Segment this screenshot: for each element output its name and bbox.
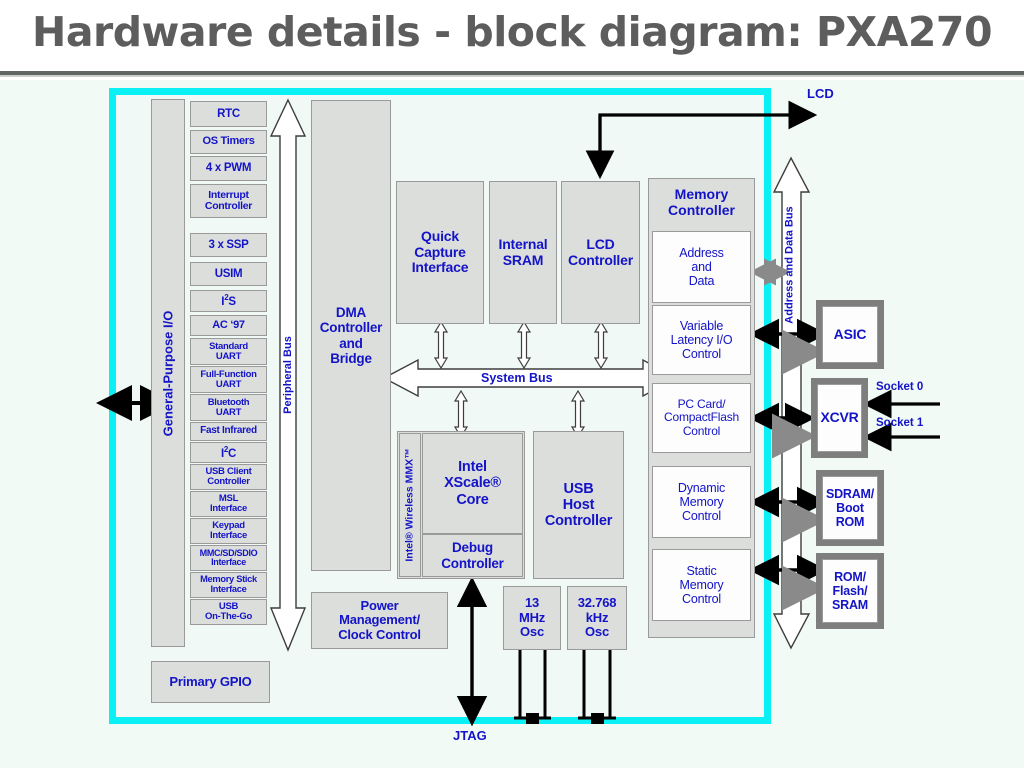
peripheral-i2s[interactable]: I2S: [190, 290, 267, 312]
lcd-controller-label: LCDController: [568, 237, 633, 268]
peripheral-i2c[interactable]: I2C: [190, 442, 267, 463]
peripheral-bluetooth-uart[interactable]: BluetoothUART: [190, 394, 267, 421]
peripheral-label: MMC/SD/SDIOInterface: [200, 549, 258, 568]
memory-address-and-data-label: AddressandData: [679, 246, 723, 288]
pc-card-compactflash-block[interactable]: PC Card/CompactFlashControl: [652, 383, 751, 453]
peripheral-standard-uart[interactable]: StandardUART: [190, 338, 267, 365]
memory-address-and-data-block[interactable]: AddressandData: [652, 231, 751, 303]
peripheral-ssp[interactable]: 3 x SSP: [190, 233, 267, 257]
osc-32768khz-label: 32.768kHzOsc: [578, 596, 617, 640]
intel-xscale-core-block[interactable]: IntelXScale®Core: [422, 433, 523, 534]
rom-flash-sram-label: ROM/Flash/SRAM: [832, 570, 868, 612]
peripheral-mmc-sd-sdio-interface[interactable]: MMC/SD/SDIOInterface: [190, 545, 267, 571]
peripheral-label: StandardUART: [209, 342, 248, 362]
xcvr-label: XCVR: [820, 410, 858, 426]
general-purpose-io-label: General-Purpose I/O: [161, 310, 176, 436]
dynamic-memory-control-block[interactable]: DynamicMemoryControl: [652, 466, 751, 538]
peripheral-msl-interface[interactable]: MSLInterface: [190, 491, 267, 517]
osc-32768khz-block[interactable]: 32.768kHzOsc: [567, 586, 627, 650]
peripheral-usb-client-controller[interactable]: USB ClientController: [190, 464, 267, 490]
system-bus-label: System Bus: [481, 371, 553, 385]
intel-wireless-mmx-block[interactable]: Intel® Wireless MMX™: [399, 433, 421, 577]
jtag-label: JTAG: [453, 728, 487, 743]
dynamic-memory-control-label: DynamicMemoryControl: [678, 481, 725, 523]
peripheral-usim[interactable]: USIM: [190, 262, 267, 286]
peripheral-label: BluetoothUART: [208, 398, 250, 418]
peripheral-label: KeypadInterface: [210, 521, 247, 541]
lcd-label: LCD: [807, 86, 834, 101]
quick-capture-interface-block[interactable]: QuickCaptureInterface: [396, 181, 484, 324]
memory-controller-title: MemoryController: [648, 186, 755, 218]
peripheral-label: MSLInterface: [210, 494, 247, 514]
peripheral-label: I2C: [221, 446, 236, 460]
peripheral-pwm[interactable]: 4 x PWM: [190, 156, 267, 181]
sdram-boot-rom-label: SDRAM/BootROM: [826, 487, 874, 529]
peripheral-label: USBOn-The-Go: [205, 602, 252, 622]
sdram-boot-rom-device[interactable]: SDRAM/BootROM: [816, 470, 884, 546]
variable-latency-io-label: VariableLatency I/OControl: [671, 319, 733, 361]
peripheral-label: Memory StickInterface: [200, 575, 257, 595]
peripheral-label: AC ‘97: [212, 320, 244, 332]
address-and-data-bus-label-wrap: Address and Data Bus: [770, 255, 810, 275]
peripheral-usb-on-the-go[interactable]: USBOn-The-Go: [190, 599, 267, 625]
lcd-controller-block[interactable]: LCDController: [561, 181, 640, 324]
peripheral-label: RTC: [217, 108, 240, 120]
peripheral-memory-stick-interface[interactable]: Memory StickInterface: [190, 572, 267, 598]
asic-device[interactable]: ASIC: [816, 300, 884, 369]
primary-gpio-block[interactable]: Primary GPIO: [151, 661, 270, 703]
osc-13mhz-block[interactable]: 13MHzOsc: [503, 586, 561, 650]
usb-host-controller-block[interactable]: USBHostController: [533, 431, 624, 579]
peripheral-interrupt-controller[interactable]: Interrupt Controller: [190, 184, 267, 218]
internal-sram-block[interactable]: InternalSRAM: [489, 181, 557, 324]
variable-latency-io-block[interactable]: VariableLatency I/OControl: [652, 305, 751, 375]
peripheral-label: 3 x SSP: [208, 239, 248, 251]
intel-xscale-core-label: IntelXScale®Core: [444, 459, 501, 508]
asic-label: ASIC: [834, 327, 867, 343]
peripheral-label: I2S: [221, 294, 235, 308]
peripheral-label: USB ClientController: [205, 467, 251, 487]
asic-inner: ASIC: [822, 306, 878, 363]
quick-capture-interface-label: QuickCaptureInterface: [412, 229, 469, 276]
socket-1-label: Socket 1: [876, 417, 923, 429]
peripheral-keypad-interface[interactable]: KeypadInterface: [190, 518, 267, 544]
debug-controller-block[interactable]: DebugController: [422, 534, 523, 577]
peripheral-full-function-uart[interactable]: Full-FunctionUART: [190, 366, 267, 393]
peripheral-label: USIM: [215, 268, 243, 280]
dma-controller-block[interactable]: DMAControllerandBridge: [311, 100, 391, 571]
peripheral-rtc[interactable]: RTC: [190, 101, 267, 127]
slide-root: Hardware details - block diagram: PXA270: [0, 0, 1024, 768]
title-divider-shadow: [0, 75, 1024, 77]
sdram-boot-rom-inner: SDRAM/BootROM: [822, 476, 878, 540]
peripheral-bus-label: Peripheral Bus: [282, 336, 294, 414]
page-title: Hardware details - block diagram: PXA270: [0, 8, 1024, 56]
peripheral-label: Full-FunctionUART: [200, 370, 256, 390]
power-management-block[interactable]: PowerManagement/Clock Control: [311, 592, 448, 649]
peripheral-ac97[interactable]: AC ‘97: [190, 315, 267, 336]
rom-flash-sram-inner: ROM/Flash/SRAM: [822, 559, 878, 623]
internal-sram-label: InternalSRAM: [499, 237, 548, 268]
peripheral-label: OS Timers: [202, 136, 254, 148]
usb-host-controller-label: USBHostController: [545, 481, 612, 530]
memory-controller-title-text: MemoryController: [668, 186, 735, 218]
intel-wireless-mmx-label: Intel® Wireless MMX™: [404, 448, 416, 561]
socket-0-label: Socket 0: [876, 381, 923, 393]
rom-flash-sram-device[interactable]: ROM/Flash/SRAM: [816, 553, 884, 629]
peripheral-label: Interrupt Controller: [191, 190, 266, 212]
xcvr-device[interactable]: XCVR: [811, 378, 868, 458]
peripheral-label: 4 x PWM: [206, 162, 251, 174]
peripheral-label: Fast Infrared: [200, 426, 257, 437]
pc-card-compactflash-label: PC Card/CompactFlashControl: [664, 398, 739, 438]
address-and-data-bus-label: Address and Data Bus: [784, 206, 796, 323]
general-purpose-io-block[interactable]: General-Purpose I/O: [151, 99, 185, 647]
xcvr-inner: XCVR: [817, 384, 862, 452]
peripheral-bus-label-wrap: Peripheral Bus: [268, 365, 308, 385]
peripheral-fast-infrared[interactable]: Fast Infrared: [190, 422, 267, 441]
osc-13mhz-label: 13MHzOsc: [519, 596, 545, 640]
static-memory-control-block[interactable]: StaticMemoryControl: [652, 549, 751, 621]
dma-controller-label: DMAControllerandBridge: [320, 305, 383, 365]
debug-controller-label: DebugController: [441, 540, 504, 570]
peripheral-os-timers[interactable]: OS Timers: [190, 130, 267, 154]
power-management-label: PowerManagement/Clock Control: [338, 599, 421, 643]
primary-gpio-label: Primary GPIO: [169, 675, 251, 690]
static-memory-control-label: StaticMemoryControl: [680, 564, 724, 606]
